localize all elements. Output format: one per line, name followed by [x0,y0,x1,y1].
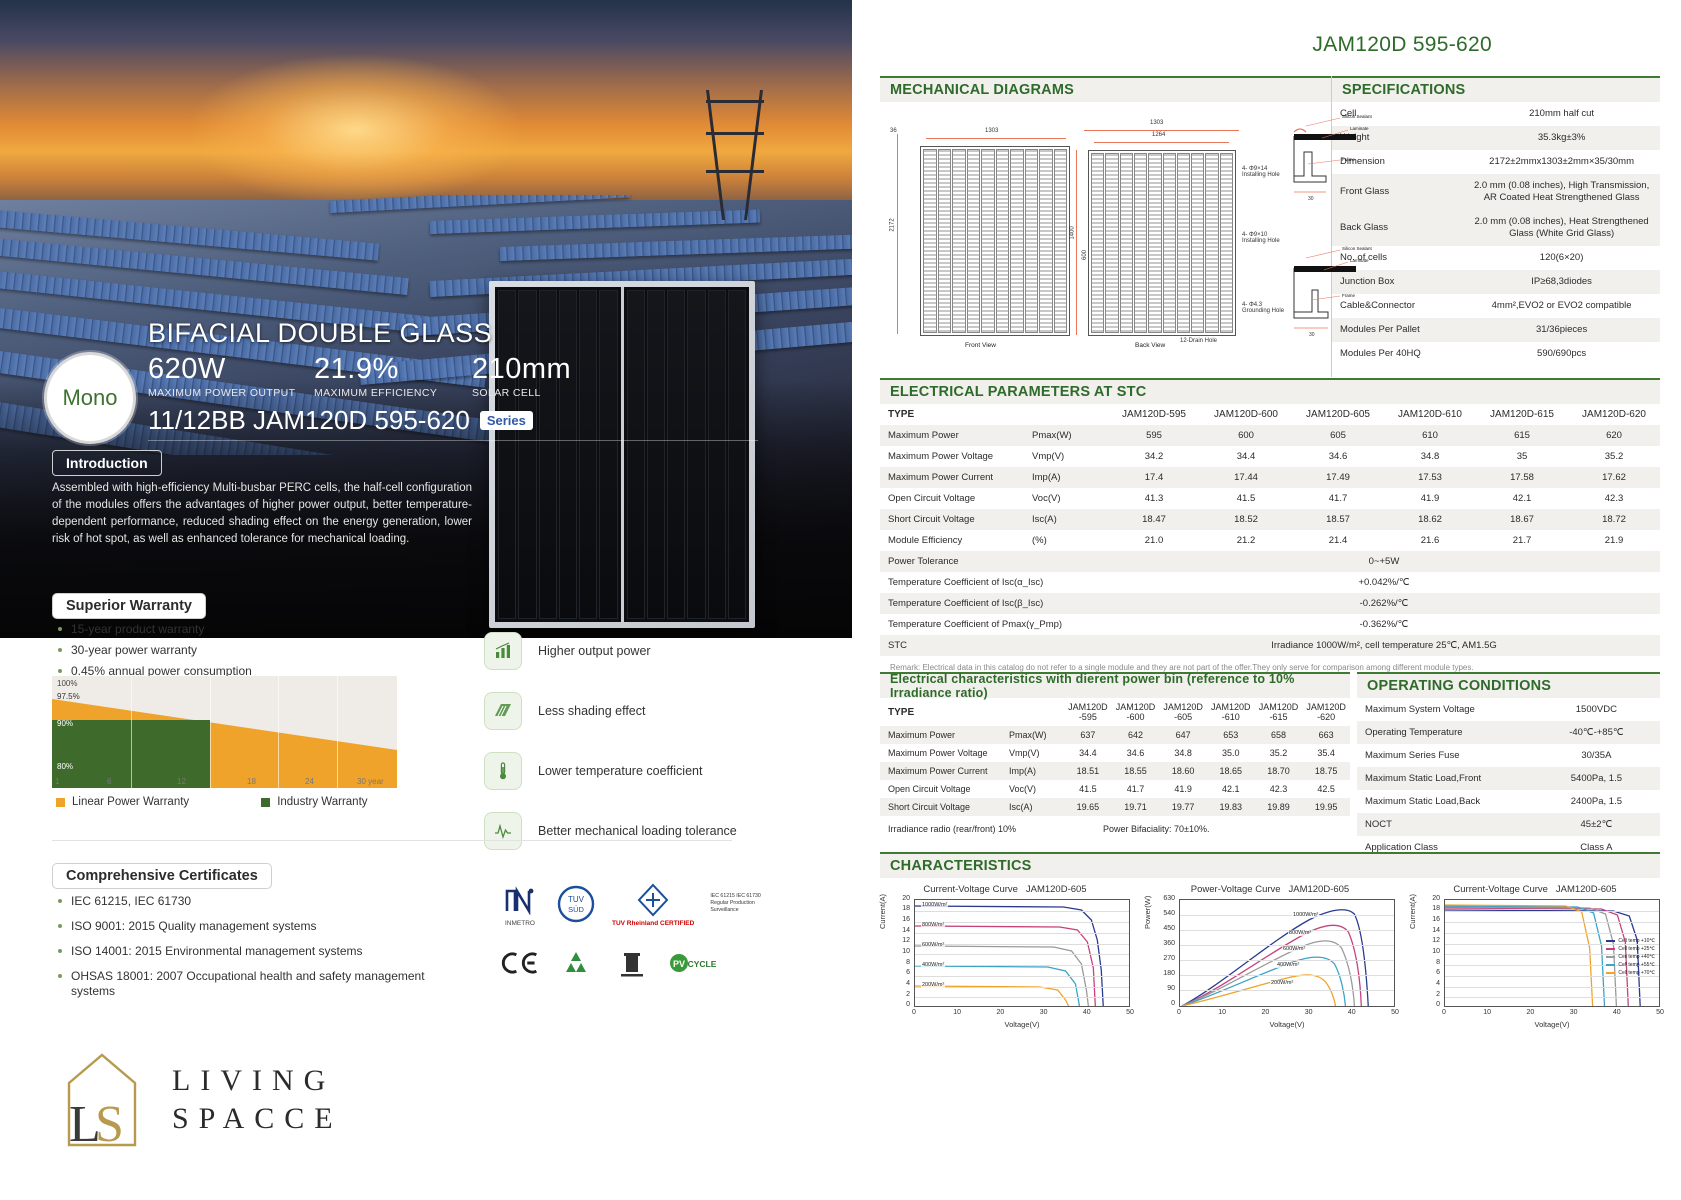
svg-text:Frame: Frame [1342,157,1355,162]
list-item: 15-year product warranty [58,622,438,636]
series-badge: Series [480,411,533,430]
characteristics-header: CHARACTERISTICS [880,852,1660,878]
list-item: OHSAS 18001: 2007 Occupational health an… [58,969,458,999]
row-label: Maximum Power Voltage [880,446,1030,467]
section-aa-drawing: Silicon Sealant Laminate Frame 30 [1282,106,1402,246]
warranty-chart-legend: Linear Power Warranty Industry Warranty [56,796,440,808]
cell: 647 [1159,726,1207,744]
cell: 18.75 [1302,762,1350,780]
cell: 19.65 [1064,798,1112,816]
chart-subtitle-text: JAM120D-605 [1288,884,1349,895]
cell: 17.58 [1476,467,1568,488]
cell: 19.95 [1302,798,1350,816]
dim-height-label: 2172 [890,218,896,231]
feature-label: Lower temperature coefficient [538,764,702,778]
shading-icon [484,692,522,730]
cell: 34.4 [1200,446,1292,467]
cell: 17.4 [1108,467,1200,488]
legend-label: Cell temp +10℃ [1618,938,1655,944]
row-label: Short Circuit Voltage [880,509,1030,530]
svg-text:Silicon Sealant: Silicon Sealant [1342,246,1373,251]
cell: 18.67 [1476,509,1568,530]
x-label-12: 12 [177,777,186,786]
cell: 21.6 [1384,530,1476,551]
cell: 615 [1476,425,1568,446]
col-line-2: -605 [1174,712,1192,722]
feature-lower-temp-coefficient: Lower temperature coefficient [484,752,814,790]
legend-label: Cell temp +55℃ [1618,962,1655,968]
cell: 620 [1568,425,1660,446]
svg-text:Frame: Frame [1342,293,1355,298]
cell: 17.44 [1200,467,1292,488]
plot-box: 1000W/m² 800W/m² 600W/m² 400W/m² 200W/m² [1179,899,1395,1007]
chart-current-voltage-irradiance: Current-Voltage Curve JAM120D-605 Curren… [880,884,1130,1019]
cell: 17.62 [1568,467,1660,488]
curve-label-600: 600W/m² [1282,946,1306,952]
row-symbol: (%) [1030,530,1108,551]
table-row: Maximum System Voltage1500VDC [1357,698,1660,721]
intro-divider [148,440,758,441]
spec-value: 210mm half cut [1463,102,1660,126]
column-header: JAM120D-605 [1292,404,1384,425]
cell: 41.9 [1384,488,1476,509]
cell: 18.52 [1200,509,1292,530]
cell: 21.9 [1568,530,1660,551]
mechanical-diagrams-panel: MECHANICAL DIAGRAMS 36 2172 1303 Fr [880,76,1332,377]
svg-text:SÜD: SÜD [568,905,584,914]
legend-label: Linear Power Warranty [72,796,189,808]
warranty-degradation-chart: 100% 97.5% 90% 80% 1 6 12 18 24 30 year [52,676,397,788]
stat-value: 210mm [472,353,602,386]
col-line-1: JAM120D [1306,702,1346,712]
mechanical-drawings: 36 2172 1303 Front View 1303 [880,102,1331,377]
col-line-2: -600 [1126,712,1144,722]
feature-label: Higher output power [538,644,651,658]
x-label-6: 6 [107,777,111,786]
oc-value: 5400Pa, 1.5 [1533,767,1660,790]
y-label-80: 80% [57,762,73,771]
certificates-list: IEC 61215, IEC 61730 ISO 9001: 2015 Qual… [58,894,458,1009]
oc-value: 45±2℃ [1533,813,1660,836]
back-view-label: Back View [1135,342,1165,349]
introduction-text: Assembled with high-efficiency Multi-bus… [52,480,472,548]
row-label: Maximum Power Current [880,467,1030,488]
bifacial-footer: Irradiance radio (rear/front) 10% Power … [880,816,1350,834]
chart-current-voltage-temperature: Current-Voltage Curve JAM120D-605 Curren… [1410,884,1660,1019]
col-line-2: -610 [1222,712,1240,722]
characteristics-panel: CHARACTERISTICS Current-Voltage Curve JA… [880,852,1660,1019]
row-label: Maximum Power Voltage [880,744,1008,762]
stat-value: 21.9% [314,353,454,386]
hero-headline: BIFACIAL DOUBLE GLASS [148,318,668,349]
legend-swatch-orange [56,798,65,807]
list-item: ISO 9001: 2015 Quality management system… [58,919,458,934]
list-item: 30-year power warranty [58,643,438,657]
brand-line-2: SPACCE [172,1102,343,1136]
x-axis-label: Voltage(V) [1444,1020,1660,1029]
y-axis-ticks: 630540450 360270180 900 [1151,899,1177,1007]
cell: 658 [1255,726,1303,744]
curve-label-400: 400W/m² [1276,962,1300,968]
svg-text:TUV: TUV [568,895,585,904]
column-header: JAM120D-595 [1108,404,1200,425]
table-row: Module Efficiency (%) 21.0 21.2 21.4 21.… [880,530,1660,551]
cell: +0.042%/℃ [1108,572,1660,593]
table-row: Operating Temperature-40℃-+85℃ [1357,721,1660,744]
chart-title: Power-Voltage Curve JAM120D-605 [1145,884,1395,895]
row-label: Module Efficiency [880,530,1030,551]
oc-key: Maximum Static Load,Back [1357,790,1533,813]
cell: 41.9 [1159,780,1207,798]
section-title: ELECTRICAL PARAMETERS AT STC [890,384,1146,400]
cell: 41.7 [1112,780,1160,798]
cell: 35 [1476,446,1568,467]
row-label: Short Circuit Voltage [880,798,1008,816]
feature-mechanical-loading: Better mechanical loading tolerance [484,812,814,850]
curve-label-200: 200W/m² [921,982,945,988]
cell: 42.5 [1302,780,1350,798]
operating-conditions-table: Maximum System Voltage1500VDC Operating … [1357,698,1660,859]
y-axis-ticks: 201816 141210 864 20 [1416,899,1442,1007]
electrical-header: ELECTRICAL PARAMETERS AT STC [880,378,1660,404]
plot-area: Current(A) 201816 141210 864 20 [1410,899,1660,1019]
recycle-icon [556,943,596,983]
cell: 18.65 [1207,762,1255,780]
introduction-pill: Introduction [52,450,162,476]
cell: 41.5 [1064,780,1112,798]
stat-label: MAXIMUM EFFICIENCY [314,387,454,399]
specifications-header: SPECIFICATIONS [1332,76,1660,102]
svg-text:30: 30 [1308,196,1314,202]
stat-label: MAXIMUM POWER OUTPUT [148,387,296,399]
row-label: Open Circuit Voltage [880,780,1008,798]
col-line-1: JAM120D [1211,702,1251,712]
y-label-97: 97.5% [57,692,80,701]
cell: 35.0 [1207,744,1255,762]
cell: 34.8 [1159,744,1207,762]
table-row: Open Circuit Voltage Voc(V) 41.3 41.5 41… [880,488,1660,509]
table-header-row: TYPE JAM120D-595 JAM120D-600 JAM120D-605… [880,698,1350,726]
cell: 41.5 [1200,488,1292,509]
legend-label: Cell temp +25℃ [1618,946,1655,952]
y-label-90: 90% [57,719,73,728]
table-row: Maximum Power Current Imp(A) 17.4 17.44 … [880,467,1660,488]
section-title: MECHANICAL DIAGRAMS [890,82,1074,98]
certificate-logos: INMETRO TUVSÜD TUV Rheinland CERTIFIED I… [500,880,800,999]
curve-label-800: 800W/m² [921,922,945,928]
column-header: JAM120D-620 [1302,698,1350,726]
curve-label-800: 800W/m² [1288,930,1312,936]
plot-box: Cell temp +10℃ Cell temp +25℃ Cell temp … [1444,899,1660,1007]
left-column: Mono BIFACIAL DOUBLE GLASS 620W MAXIMUM … [0,0,852,1200]
column-header: JAM120D-605 [1159,698,1207,726]
cell: 21.7 [1476,530,1568,551]
x-label-30: 30 year [357,777,384,786]
brand-logo: L S LIVING SPACCE [55,1045,343,1155]
chart-subtitle-text: JAM120D-605 [1026,884,1087,895]
cell: 42.3 [1255,780,1303,798]
column-header-type: TYPE [880,404,1108,425]
curve-label-400: 400W/m² [921,962,945,968]
spec-value: 2172±2mmx1303±2mm×35/30mm [1463,150,1660,174]
hole-callout-3: 4- Φ4.3 Grounding Hole [1242,302,1284,314]
x-label-18: 18 [247,777,256,786]
operating-header: OPERATING CONDITIONS [1357,672,1660,698]
table-row: Maximum Power Current Imp(A) 18.51 18.55… [880,762,1350,780]
dim-inner-label: 1264 [1152,132,1165,138]
legend-label: Cell temp +40℃ [1618,954,1655,960]
svg-text:CYCLE: CYCLE [688,959,717,969]
cell: 595 [1108,425,1200,446]
table-row: Maximum Static Load,Front5400Pa, 1.5 [1357,767,1660,790]
svg-text:Laminate: Laminate [1350,126,1369,131]
section-divider [52,840,732,841]
dim-top-left-label: 1303 [985,128,998,134]
row-symbol: Voc(V) [1008,780,1064,798]
pv-cycle-logo: PVCYCLE [668,943,724,983]
list-item: IEC 61215, IEC 61730 [58,894,458,909]
chart-gridlines [52,676,397,788]
page-title: JAM120D 595-620 [1312,33,1492,57]
row-symbol: Pmax(W) [1030,425,1108,446]
cell: 41.3 [1108,488,1200,509]
cell: 34.8 [1384,446,1476,467]
column-header: JAM120D-600 [1112,698,1160,726]
mechanical-and-specs: MECHANICAL DIAGRAMS 36 2172 1303 Fr [880,76,1660,394]
electrical-parameters-table: TYPE JAM120D-595 JAM120D-600 JAM120D-605… [880,404,1660,656]
legend-item: Cell temp +70℃ [1606,970,1655,976]
logo-label: INMETRO [505,920,535,927]
svg-text:S: S [95,1096,124,1153]
spec-value: IP≥68,3diodes [1463,270,1660,294]
cell: 21.4 [1292,530,1384,551]
section-title: OPERATING CONDITIONS [1367,678,1551,694]
cell: 34.6 [1112,744,1160,762]
hole-callout-4: 12-Drain Hole [1180,338,1217,344]
right-column: JAM120D 595-620 MECHANICAL DIAGRAMS 36 2… [852,0,1681,1200]
cell: 17.49 [1292,467,1384,488]
x-axis-label: Voltage(V) [914,1020,1130,1029]
table-row: Power Tolerance 0~+5W [880,551,1660,572]
tuv-sud-logo: TUVSÜD [556,884,596,924]
col-line-2: -595 [1079,712,1097,722]
logo-row-2: PVCYCLE [500,943,800,983]
cell: 642 [1112,726,1160,744]
table-row: Maximum Static Load,Back2400Pa, 1.5 [1357,790,1660,813]
cell: 35.4 [1302,744,1350,762]
column-header: JAM120D-615 [1255,698,1303,726]
cell: 605 [1292,425,1384,446]
spec-value: 4mm²,EVO2 or EVO2 compatible [1463,294,1660,318]
legend-item-linear: Linear Power Warranty [56,796,189,808]
cell: 17.53 [1384,467,1476,488]
column-header: JAM120D-610 [1207,698,1255,726]
row-symbol: Voc(V) [1030,488,1108,509]
cell: -0.262%/℃ [1108,593,1660,614]
table-row: NOCT45±2℃ [1357,813,1660,836]
hero-stats: 620W MAXIMUM POWER OUTPUT 21.9% MAXIMUM … [148,353,668,399]
bar-chart-icon [484,632,522,670]
model-text: 11/12BB JAM120D 595-620 [148,405,470,436]
spec-value: 120(6×20) [1463,246,1660,270]
weee-bin-icon [612,943,652,983]
curve-label-600: 600W/m² [921,942,945,948]
cell: 18.72 [1568,509,1660,530]
cell: 21.0 [1108,530,1200,551]
cell: 19.83 [1207,798,1255,816]
column-header: JAM120D-610 [1384,404,1476,425]
cell: 610 [1384,425,1476,446]
cell: 35.2 [1568,446,1660,467]
sun-glow [190,55,520,205]
ls-house-icon: L S [55,1045,150,1155]
oc-key: NOCT [1357,813,1533,836]
legend-item: Cell temp +55℃ [1606,962,1655,968]
row-symbol: Vmp(V) [1030,446,1108,467]
svg-text:30: 30 [1309,332,1315,338]
legend-item: Cell temp +40℃ [1606,954,1655,960]
hero-model-line: 11/12BB JAM120D 595-620 Series [148,405,668,436]
table-row: Maximum Series Fuse30/35A [1357,744,1660,767]
cell: 663 [1302,726,1350,744]
chart-legend: Cell temp +10℃ Cell temp +25℃ Cell temp … [1606,938,1655,978]
cell: 18.51 [1064,762,1112,780]
spec-value: 31/36pieces [1463,318,1660,342]
row-symbol: Isc(A) [1030,509,1108,530]
col-line-1: JAM120D [1116,702,1156,712]
logo-row-1: INMETRO TUVSÜD TUV Rheinland CERTIFIED I… [500,880,800,927]
certificates-pill: Comprehensive Certificates [52,863,272,889]
legend-label: Industry Warranty [277,796,367,808]
row-label: Power Tolerance [880,551,1108,572]
row-label: STC [880,635,1108,656]
legend-swatch-green [261,798,270,807]
cell: 18.47 [1108,509,1200,530]
feature-list: Higher output power Less shading effect … [484,632,814,872]
section-title: CHARACTERISTICS [890,858,1032,874]
table-row: Short Circuit Voltage Isc(A) 19.65 19.71… [880,798,1350,816]
table-row: Temperature Coefficient of Pmax(γ_Pmp) -… [880,614,1660,635]
cell: 34.4 [1064,744,1112,762]
power-bifaciality-note: Power Bifaciality: 70±10%. [1103,824,1210,834]
cell: 42.1 [1476,488,1568,509]
col-line-2: -620 [1317,712,1335,722]
cell: 18.60 [1159,762,1207,780]
transmission-tower [700,90,770,220]
chart-title-text: Power-Voltage Curve [1191,884,1281,895]
dim-small-label: 36 [890,128,897,134]
bifacial-table: TYPE JAM120D-595 JAM120D-600 JAM120D-605… [880,698,1350,816]
row-symbol: Imp(A) [1030,467,1108,488]
mono-badge: Mono [44,352,136,444]
column-header: JAM120D-600 [1200,404,1292,425]
row-label: Temperature Coefficient of Pmax(γ_Pmp) [880,614,1108,635]
front-view-label: Front View [965,342,996,349]
hero-stat-cell: 210mm SOLAR CELL [472,353,602,399]
feature-label: Less shading effect [538,704,645,718]
legend-item-industry: Industry Warranty [261,796,367,808]
col-line-1: JAM120D [1259,702,1299,712]
chart-subtitle-text: JAM120D-605 [1556,884,1617,895]
table-header-row: TYPE JAM120D-595 JAM120D-600 JAM120D-605… [880,404,1660,425]
oc-key: Maximum Static Load,Front [1357,767,1533,790]
x-label-1: 1 [55,777,59,786]
chart-title: Current-Voltage Curve JAM120D-605 [880,884,1130,895]
plot-area: Current(A) 201816 141210 864 20 [880,899,1130,1019]
cell: 18.55 [1112,762,1160,780]
spec-value: 2.0 mm (0.08 inches), Heat Strengthened … [1463,210,1660,246]
row-symbol: Vmp(V) [1008,744,1064,762]
superior-warranty-pill: Superior Warranty [52,593,206,619]
col-line-2: -615 [1269,712,1287,722]
table-row: Maximum Power Pmax(W) 637 642 647 653 65… [880,726,1350,744]
chart-title: Current-Voltage Curve JAM120D-605 [1410,884,1660,895]
feature-higher-output: Higher output power [484,632,814,670]
x-axis-label: Voltage(V) [1179,1020,1395,1029]
cell: Irradiance 1000W/m², cell temperature 25… [1108,635,1660,656]
cell: 34.6 [1292,446,1384,467]
y-label-100: 100% [57,679,77,688]
row-symbol: Pmax(W) [1008,726,1064,744]
oc-value: 30/35A [1533,744,1660,767]
x-label-24: 24 [305,777,314,786]
cell: 18.57 [1292,509,1384,530]
brand-wordmark: LIVING SPACCE [172,1064,343,1136]
legend-item: Cell temp +10℃ [1606,938,1655,944]
plot-box: 1000W/m² 800W/m² 600W/m² 400W/m² 200W/m² [914,899,1130,1007]
chart-title-text: Current-Voltage Curve [923,884,1018,895]
y-axis-ticks: 201816 141210 864 20 [886,899,912,1007]
cell: 653 [1207,726,1255,744]
charts-row: Current-Voltage Curve JAM120D-605 Curren… [880,884,1660,1019]
cell: 0~+5W [1108,551,1660,572]
oc-value: -40℃-+85℃ [1533,721,1660,744]
cell: 18.62 [1384,509,1476,530]
table-row: Maximum Power Pmax(W) 595 600 605 610 61… [880,425,1660,446]
hole-callout-1: 4- Φ9×14 Installing Hole [1242,166,1280,178]
chart-power-voltage: Power-Voltage Curve JAM120D-605 Power(W)… [1145,884,1395,1019]
tuv-rheinland-logo: TUV Rheinland CERTIFIED [612,880,694,927]
logo-label: TUV Rheinland CERTIFIED [612,920,694,927]
oc-key: Maximum System Voltage [1357,698,1533,721]
row-symbol: Imp(A) [1008,762,1064,780]
hero-text-block: BIFACIAL DOUBLE GLASS 620W MAXIMUM POWER… [148,318,668,436]
brand-line-1: LIVING [172,1064,343,1098]
section-bb-drawing: Silicon Sealant Laminate Frame 30 [1282,240,1402,370]
row-label: Temperature Coefficient of Isc(α_Isc) [880,572,1108,593]
cell: 18.70 [1255,762,1303,780]
row-label: Maximum Power Current [880,762,1008,780]
col-line-1: JAM120D [1163,702,1203,712]
cell: 35.2 [1255,744,1303,762]
bifacial-characteristics-panel: Electrical characteristics with dierent … [880,672,1350,834]
inmetro-logo: INMETRO [500,880,540,927]
iec-surveillance-label: IEC 61215 IEC 61730 Regular Production S… [710,893,780,914]
stat-value: 620W [148,353,296,386]
table-row: Open Circuit Voltage Voc(V) 41.5 41.7 41… [880,780,1350,798]
cell: -0.362%/℃ [1108,614,1660,635]
table-row: Short Circuit Voltage Isc(A) 18.47 18.52… [880,509,1660,530]
spec-value: 590/690pcs [1463,342,1660,366]
list-item: ISO 14001: 2015 Environmental management… [58,944,458,959]
cell: 19.77 [1159,798,1207,816]
table-row: Temperature Coefficient of Isc(α_Isc) +0… [880,572,1660,593]
row-symbol: Isc(A) [1008,798,1064,816]
spec-value: 35.3kg±3% [1463,126,1660,150]
legend-item: Cell temp +25℃ [1606,946,1655,952]
hero-stat-power: 620W MAXIMUM POWER OUTPUT [148,353,296,399]
row-label: Open Circuit Voltage [880,488,1030,509]
